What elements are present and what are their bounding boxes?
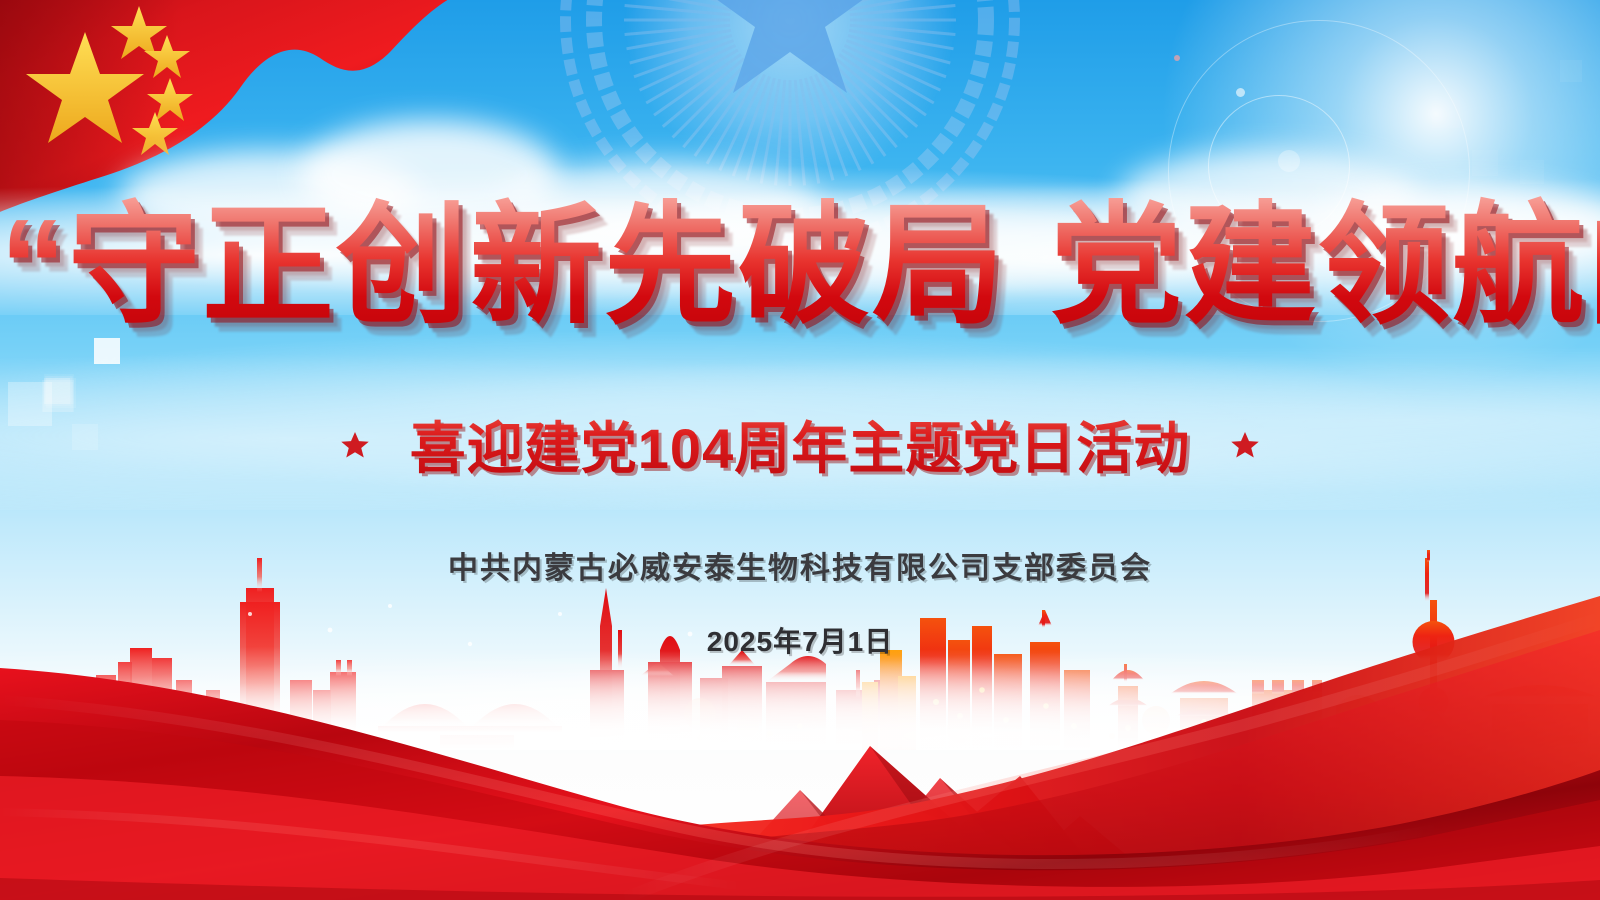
decor-square: [1520, 160, 1544, 184]
decor-square: [45, 376, 73, 404]
organization-name: 中共内蒙古必威安泰生物科技有限公司支部委员会: [0, 543, 1600, 587]
red-star-icon: [1230, 430, 1260, 460]
decor-square: [94, 338, 120, 364]
lens-flare-dot-icon: [1236, 88, 1245, 97]
decor-square: [1472, 150, 1498, 176]
lens-flare-dot-icon: [1174, 55, 1180, 61]
main-title-line1: “守正创新先破局: [0, 192, 1006, 339]
decor-square: [46, 376, 72, 402]
event-date: 2025年7月1日: [0, 620, 1600, 660]
subtitle: 喜迎建党104周年主题党日活动: [410, 404, 1190, 485]
decor-square: [1560, 60, 1582, 82]
page-title: “守正创新先破局党建领航向阳生”: [0, 196, 1600, 336]
lens-flare-dot-icon: [1278, 150, 1300, 172]
decor-square: [1432, 100, 1460, 128]
decor-square: [44, 378, 72, 406]
red-star-icon: [340, 430, 370, 460]
main-title-line2: 党建领航向阳生”: [1050, 192, 1600, 339]
subtitle-row: 喜迎建党104周年主题党日活动: [0, 404, 1600, 485]
decor-square: [44, 374, 74, 404]
poster-canvas: “守正创新先破局党建领航向阳生” 喜迎建党104周年主题党日活动 中共内蒙古必威…: [0, 0, 1600, 900]
decor-square: [45, 380, 71, 406]
decor-square: [44, 378, 70, 404]
